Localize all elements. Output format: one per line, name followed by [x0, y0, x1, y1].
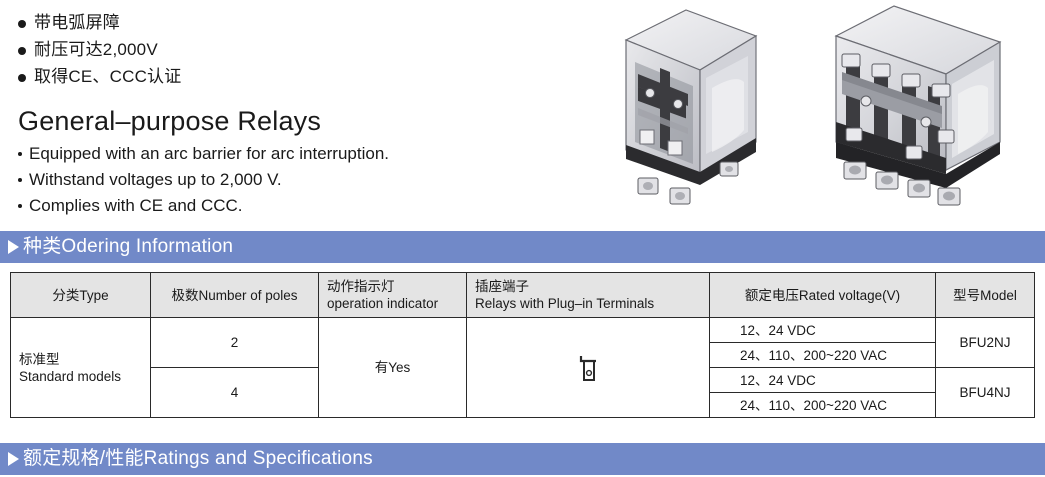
- english-bullet-list: Equipped with an arc barrier for arc int…: [18, 142, 389, 220]
- cell-model: BFU4NJ: [936, 368, 1035, 418]
- bullet-dot-icon: [18, 47, 26, 55]
- th-poles-label: 极数Number of poles: [171, 288, 297, 303]
- cell-voltage: 12、24 VDC: [710, 318, 936, 343]
- list-item: 取得CE、CCC认证: [18, 66, 181, 88]
- bullet-dot-icon: [18, 20, 26, 28]
- cell-model: BFU2NJ: [936, 318, 1035, 368]
- bullet-dot-icon: [18, 74, 26, 82]
- cell-voltage: 24、110、200~220 VAC: [710, 343, 936, 368]
- cell-poles: 2: [151, 318, 319, 368]
- th-model-label: 型号Model: [953, 288, 1017, 303]
- table-header-row: 分类Type 极数Number of poles 动作指示灯 operation…: [11, 273, 1035, 318]
- plug-in-terminal-icon: [575, 352, 601, 384]
- cell-operation-indicator: 有Yes: [319, 318, 467, 418]
- bullet-text: Withstand voltages up to 2,000 V.: [29, 168, 282, 192]
- th-number-of-poles: 极数Number of poles: [151, 273, 319, 318]
- list-item: 带电弧屏障: [18, 12, 181, 34]
- relay-2-pole-photo: [608, 2, 813, 207]
- th-model: 型号Model: [936, 273, 1035, 318]
- ordering-information-table: 分类Type 极数Number of poles 动作指示灯 operation…: [10, 272, 1035, 418]
- list-item: 耐压可达2,000V: [18, 39, 181, 61]
- th-type-label: 分类Type: [52, 288, 108, 303]
- triangle-right-icon: [8, 240, 19, 254]
- th-voltage-label: 额定电压Rated voltage(V): [745, 288, 900, 303]
- bullet-dot-icon: [18, 178, 22, 182]
- bullet-text: 耐压可达2,000V: [34, 39, 158, 61]
- section-header-ratings-and-specifications: 额定规格/性能Ratings and Specifications: [0, 443, 1045, 475]
- table-row: 标准型 Standard models 2 有Yes 12、24 VDC BFU…: [11, 318, 1035, 343]
- intro-section: 带电弧屏障 耐压可达2,000V 取得CE、CCC认证 General–purp…: [0, 0, 1045, 228]
- cell-type: 标准型 Standard models: [11, 318, 151, 418]
- th-terminals-label-en: Relays with Plug–in Terminals: [475, 295, 703, 312]
- cell-poles: 4: [151, 368, 319, 418]
- cell-voltage: 24、110、200~220 VAC: [710, 393, 936, 418]
- relay-4-pole-photo: [822, 2, 1034, 207]
- bullet-text: 取得CE、CCC认证: [34, 66, 181, 88]
- cell-plug-in-terminal: [467, 318, 710, 418]
- page-title: General–purpose Relays: [18, 104, 321, 138]
- chinese-bullet-list: 带电弧屏障 耐压可达2,000V 取得CE、CCC认证: [18, 12, 181, 93]
- th-operation-indicator: 动作指示灯 operation indicator: [319, 273, 467, 318]
- th-type: 分类Type: [11, 273, 151, 318]
- th-terminals-label-cn: 插座端子: [475, 278, 703, 295]
- th-rated-voltage: 额定电压Rated voltage(V): [710, 273, 936, 318]
- th-indicator-label-cn: 动作指示灯: [327, 278, 460, 295]
- triangle-right-icon: [8, 452, 19, 466]
- bullet-text: Equipped with an arc barrier for arc int…: [29, 142, 389, 166]
- cell-type-cn: 标准型: [19, 351, 144, 368]
- bullet-dot-icon: [18, 204, 22, 208]
- list-item: Complies with CE and CCC.: [18, 194, 389, 218]
- list-item: Equipped with an arc barrier for arc int…: [18, 142, 389, 166]
- section-title: 额定规格/性能Ratings and Specifications: [23, 448, 373, 470]
- bullet-text: 带电弧屏障: [34, 12, 120, 34]
- bullet-text: Complies with CE and CCC.: [29, 194, 243, 218]
- cell-type-en: Standard models: [19, 368, 144, 385]
- list-item: Withstand voltages up to 2,000 V.: [18, 168, 389, 192]
- section-header-ordering-information: 种类Odering Information: [0, 231, 1045, 263]
- section-title: 种类Odering Information: [23, 236, 233, 258]
- bullet-dot-icon: [18, 152, 22, 156]
- cell-voltage: 12、24 VDC: [710, 368, 936, 393]
- th-plug-in-terminals: 插座端子 Relays with Plug–in Terminals: [467, 273, 710, 318]
- th-indicator-label-en: operation indicator: [327, 295, 460, 312]
